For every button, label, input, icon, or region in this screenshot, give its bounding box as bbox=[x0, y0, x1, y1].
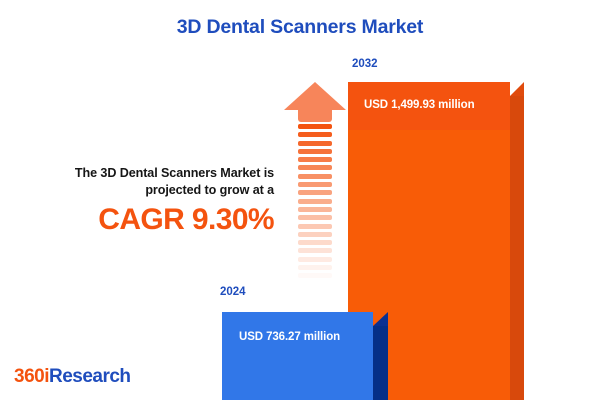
bar-2024-top-face bbox=[373, 312, 388, 326]
arrow-stripe bbox=[298, 141, 332, 146]
caption-block: The 3D Dental Scanners Market is project… bbox=[18, 165, 274, 237]
arrow-stripe bbox=[298, 232, 332, 237]
arrow-stripe bbox=[298, 265, 332, 270]
arrow-stripe bbox=[298, 190, 332, 195]
arrow-stripe bbox=[298, 273, 332, 278]
cagr-value: CAGR 9.30% bbox=[18, 203, 274, 237]
arrow-stripe bbox=[298, 174, 332, 179]
arrow-stripe bbox=[298, 248, 332, 253]
bar-2024: USD 736.27 million bbox=[222, 312, 388, 400]
arrow-stripe bbox=[298, 149, 332, 154]
arrow-stripe bbox=[298, 132, 332, 137]
caption-text: The 3D Dental Scanners Market is project… bbox=[18, 165, 274, 198]
bar-label-2032: 2032 bbox=[352, 58, 378, 70]
arrow-stripe bbox=[298, 207, 332, 212]
bar-2032-top-face bbox=[510, 82, 524, 96]
arrow-stripe bbox=[298, 257, 332, 262]
bar-2032-side-face bbox=[510, 96, 524, 400]
arrow-stripes bbox=[298, 124, 332, 290]
brand-logo-mark: 360i bbox=[14, 366, 49, 387]
arrow-stripe bbox=[298, 199, 332, 204]
growth-arrow-icon bbox=[284, 82, 346, 290]
bar-2024-front-face: USD 736.27 million bbox=[222, 312, 373, 400]
arrow-stripe bbox=[298, 240, 332, 245]
arrow-stripe bbox=[298, 124, 332, 129]
arrow-stripe bbox=[298, 224, 332, 229]
arrow-stripe bbox=[298, 215, 332, 220]
brand-logo-text: Research bbox=[49, 366, 131, 387]
arrow-stripe bbox=[298, 157, 332, 162]
bar-2032-value-label: USD 1,499.93 million bbox=[364, 99, 475, 111]
arrow-stripe bbox=[298, 165, 332, 170]
arrow-head-icon bbox=[284, 82, 346, 110]
bar-2024-side-face bbox=[373, 326, 388, 400]
bar-2024-value-label: USD 736.27 million bbox=[239, 331, 340, 343]
arrow-stripe bbox=[298, 182, 332, 187]
infographic-canvas: 3D Dental Scanners Market The 3D Dental … bbox=[0, 0, 600, 400]
arrow-neck bbox=[298, 109, 332, 122]
arrow-stripe bbox=[298, 282, 332, 287]
bar-label-2024: 2024 bbox=[220, 286, 246, 298]
brand-logo: 360iResearch bbox=[14, 366, 131, 388]
page-title: 3D Dental Scanners Market bbox=[0, 16, 600, 39]
